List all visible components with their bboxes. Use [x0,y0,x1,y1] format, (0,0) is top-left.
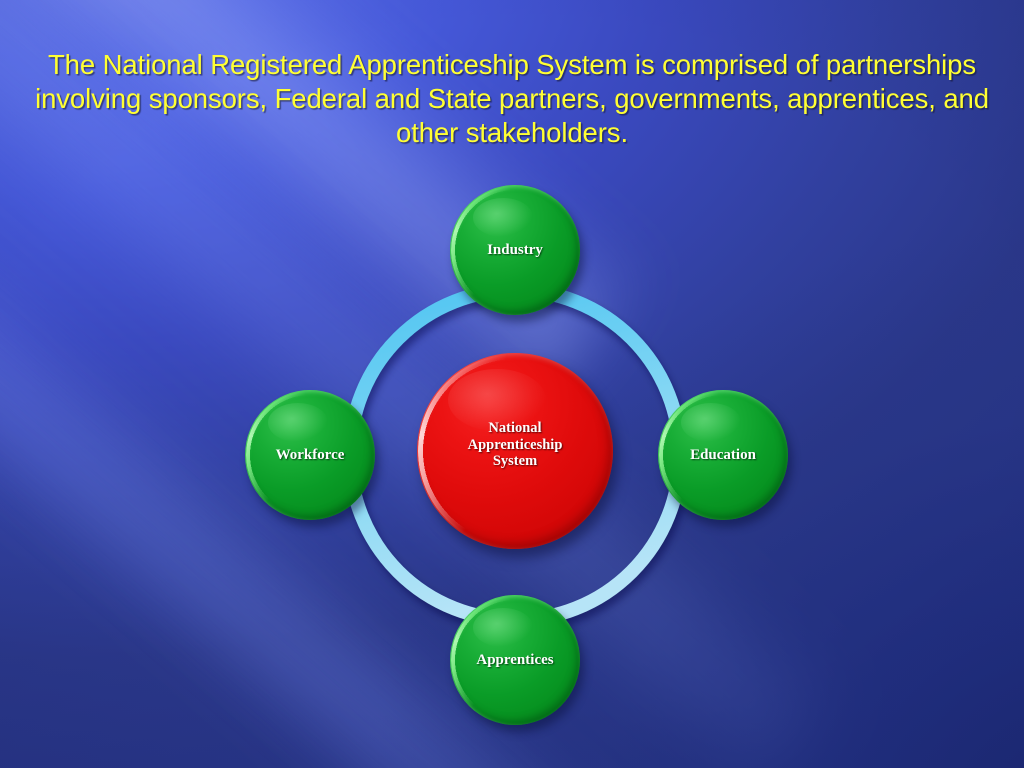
node-industry[interactable]: Industry [450,185,580,315]
slide-canvas: The National Registered Apprenticeship S… [0,0,1024,768]
node-workforce-label: Workforce [270,447,351,464]
node-national-apprenticeship-system[interactable]: National Apprenticeship System [417,353,613,549]
node-center-label: National Apprenticeship System [462,420,569,470]
node-education[interactable]: Education [658,390,788,520]
apprenticeship-system-diagram: Industry Workforce Education Apprentices… [0,0,1024,768]
node-apprentices[interactable]: Apprentices [450,595,580,725]
node-industry-label: Industry [481,242,549,259]
node-apprentices-label: Apprentices [470,652,559,669]
node-workforce[interactable]: Workforce [245,390,375,520]
node-education-label: Education [684,447,762,464]
